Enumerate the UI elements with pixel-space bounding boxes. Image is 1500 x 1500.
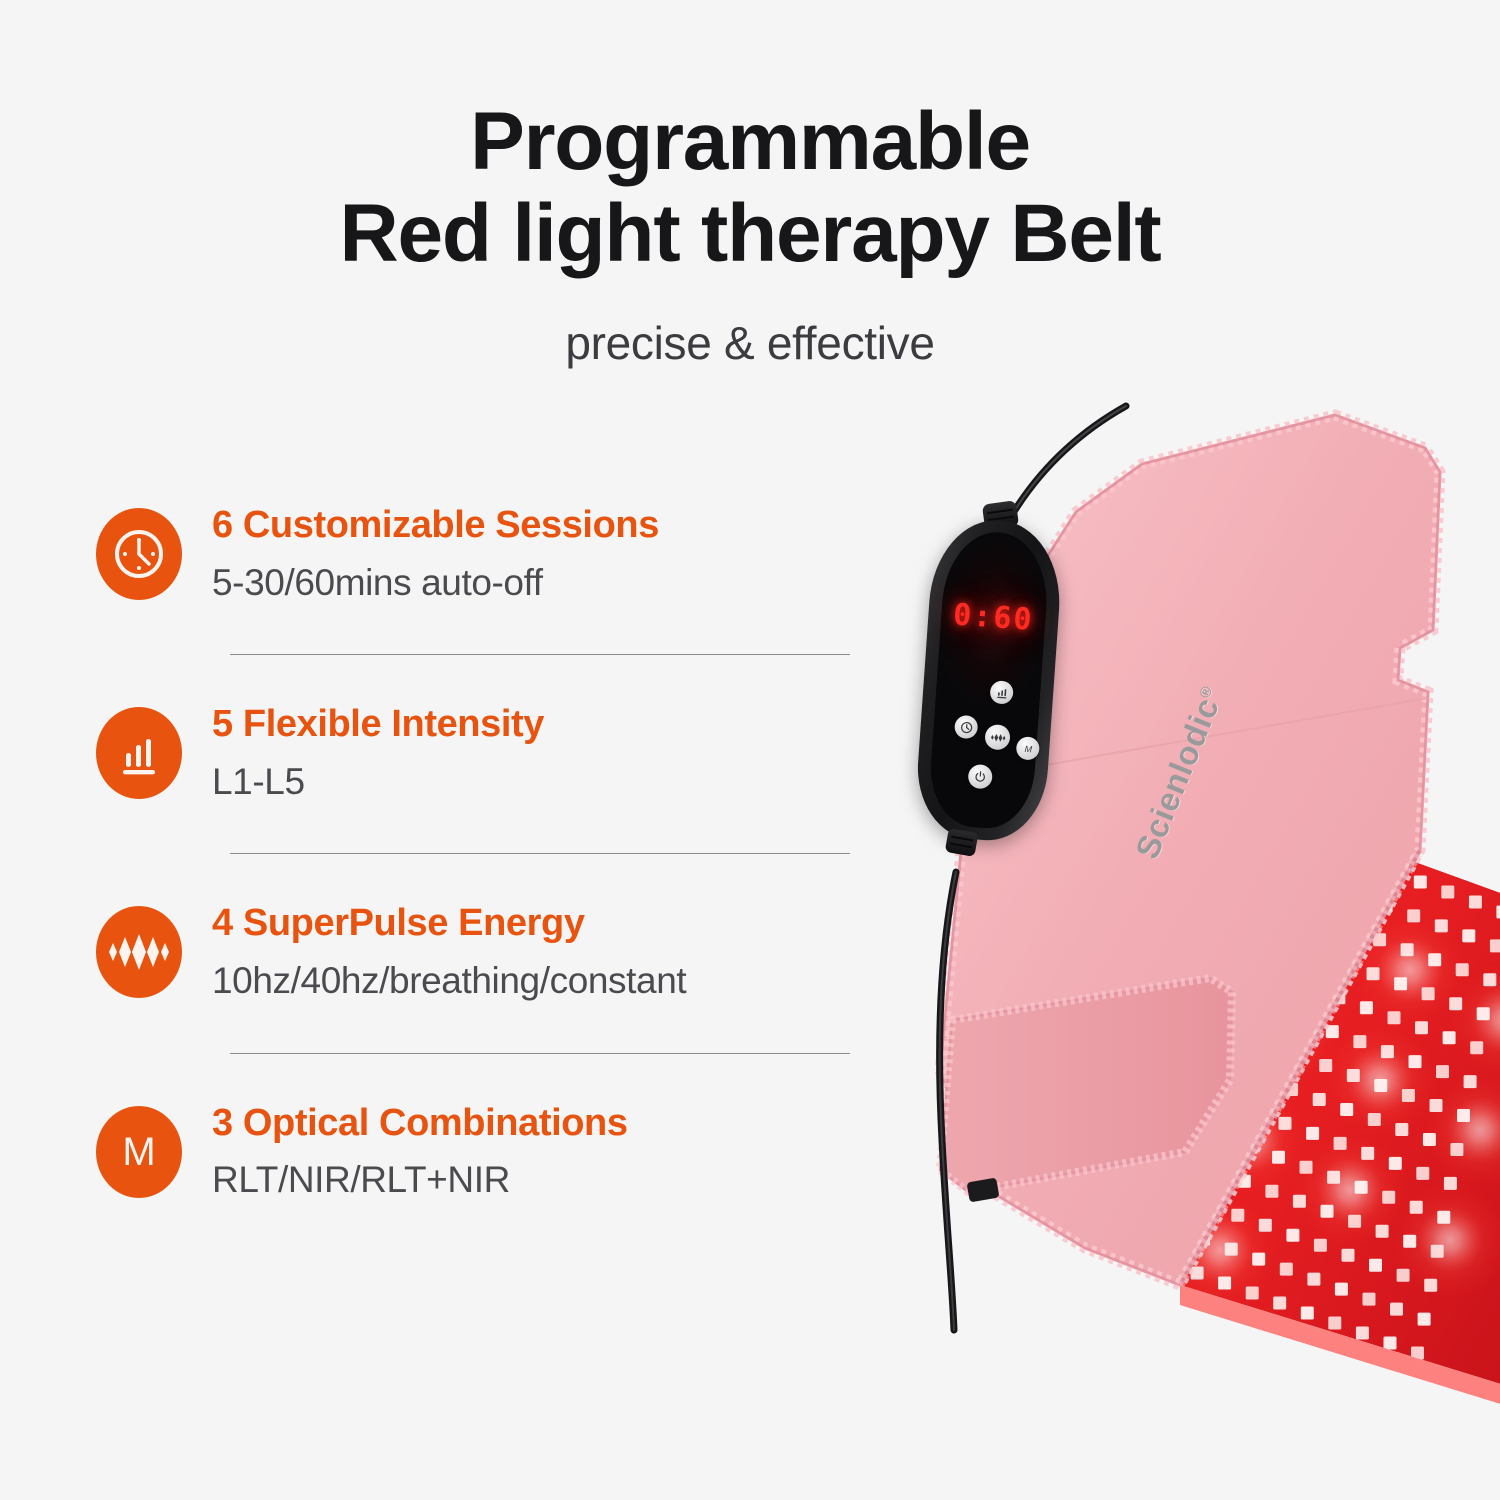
power-button[interactable]	[967, 764, 993, 790]
feature-title: 6 Customizable Sessions	[212, 504, 659, 548]
feature-item-intensity: 5 Flexible Intensity L1-L5	[96, 701, 886, 803]
title-line-2: Red light therapy Belt	[0, 188, 1500, 280]
intensity-button[interactable]	[989, 680, 1014, 705]
pulse-wave-icon	[989, 730, 1006, 745]
feature-text: 4 SuperPulse Energy 10hz/40hz/breathing/…	[212, 900, 686, 1002]
feature-subtitle: RLT/NIR/RLT+NIR	[212, 1145, 628, 1202]
controller-faceplate: 0:60	[927, 529, 1051, 832]
feature-divider	[230, 1053, 850, 1054]
feature-title: 5 Flexible Intensity	[212, 703, 544, 747]
clock-icon	[959, 720, 974, 735]
letter-m-icon: M	[96, 1106, 182, 1198]
svg-text:M: M	[1024, 743, 1033, 754]
cable-strain-relief-bottom	[945, 828, 979, 857]
feature-divider	[230, 853, 850, 854]
bar-chart-icon	[96, 707, 182, 799]
feature-divider	[230, 654, 850, 655]
feature-title: 4 SuperPulse Energy	[212, 902, 686, 946]
led-display: 0:60	[940, 597, 1046, 639]
feature-subtitle: L1-L5	[212, 747, 544, 804]
infographic-canvas: Programmable Red light therapy Belt prec…	[0, 0, 1500, 1500]
product-photo: Scienlodic® 0:60	[880, 380, 1500, 1500]
feature-item-optical: M 3 Optical Combinations RLT/NIR/RLT+NIR	[96, 1100, 886, 1202]
controller-remote: 0:60	[913, 516, 1065, 844]
title-line-1: Programmable	[0, 96, 1500, 188]
power-icon	[973, 769, 988, 784]
feature-item-sessions: 6 Customizable Sessions 5-30/60mins auto…	[96, 502, 886, 604]
timer-button[interactable]	[954, 715, 979, 740]
header: Programmable Red light therapy Belt prec…	[0, 0, 1500, 370]
letter-m-icon: M	[1020, 741, 1035, 756]
pulse-wave-icon	[96, 906, 182, 998]
feature-subtitle: 10hz/40hz/breathing/constant	[212, 946, 686, 1003]
feature-subtitle: 5-30/60mins auto-off	[212, 548, 659, 605]
feature-title: 3 Optical Combinations	[212, 1102, 628, 1146]
mode-button[interactable]: M	[1016, 736, 1041, 761]
feature-list: 6 Customizable Sessions 5-30/60mins auto…	[96, 502, 886, 1202]
controller-body: 0:60	[913, 516, 1065, 844]
svg-text:M: M	[122, 1130, 155, 1174]
page-title: Programmable Red light therapy Belt	[0, 0, 1500, 280]
feature-text: 3 Optical Combinations RLT/NIR/RLT+NIR	[212, 1100, 628, 1202]
feature-text: 5 Flexible Intensity L1-L5	[212, 701, 544, 803]
bar-chart-icon	[994, 685, 1009, 700]
page-subtitle: precise & effective	[0, 280, 1500, 370]
feature-item-superpulse: 4 SuperPulse Energy 10hz/40hz/breathing/…	[96, 900, 886, 1002]
clock-icon	[96, 508, 182, 600]
pulse-button[interactable]	[984, 724, 1011, 751]
feature-text: 6 Customizable Sessions 5-30/60mins auto…	[212, 502, 659, 604]
